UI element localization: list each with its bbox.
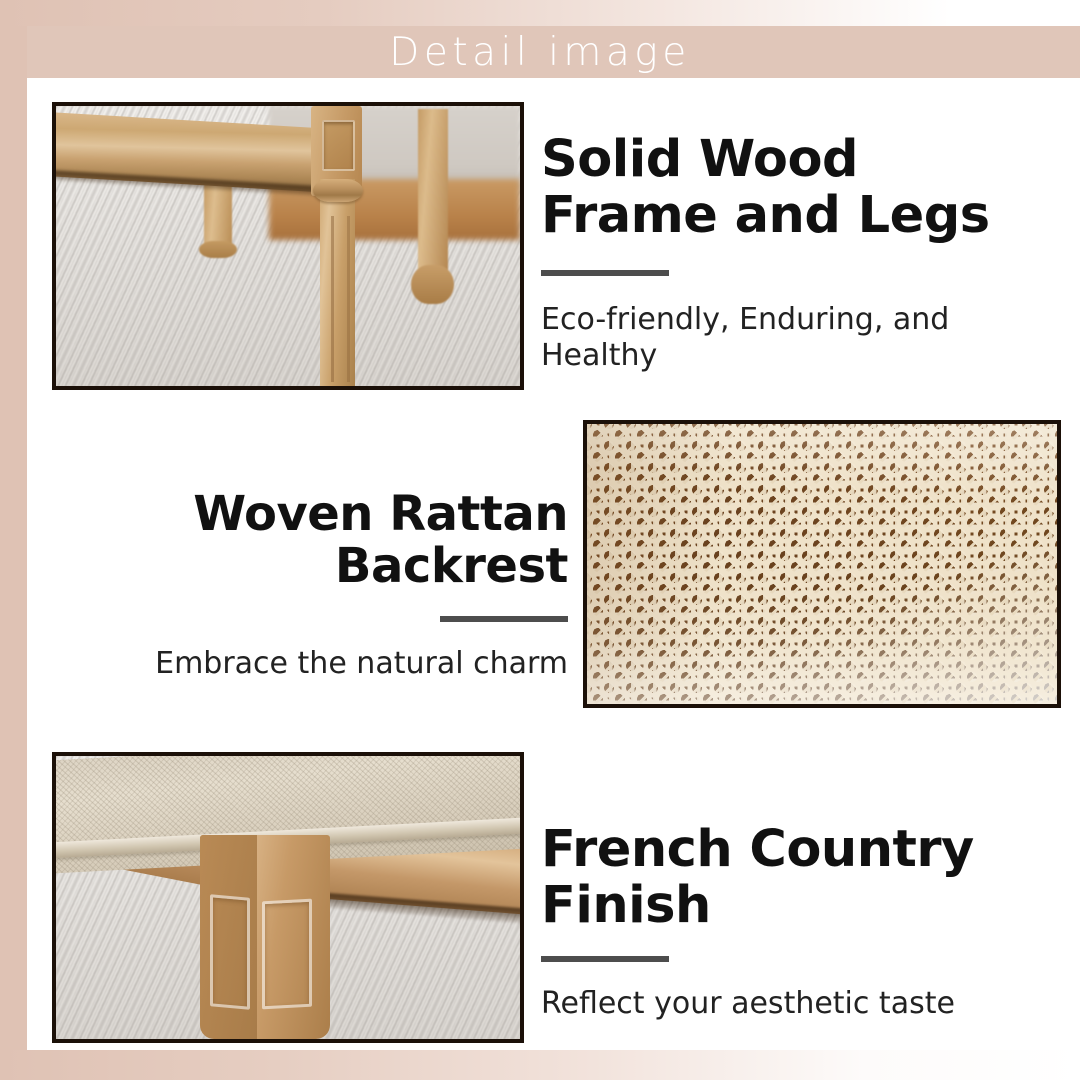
chair-leg-middle (204, 182, 232, 249)
leg-carved-panel-left (210, 895, 250, 1010)
heading-french-country: French Country Finish (541, 822, 1061, 934)
text-block-woven-rattan: Woven Rattan Backrest Embrace the natura… (33, 488, 568, 682)
top-gradient-strip (0, 0, 1080, 26)
subtitle-woven-rattan: Embrace the natural charm (33, 646, 568, 682)
heading-solid-wood-line2: Frame and Legs (541, 188, 1061, 244)
photo-woven-rattan (583, 420, 1061, 708)
divider-woven-rattan (440, 616, 568, 622)
divider-french-country (541, 956, 669, 962)
text-block-french-country: French Country Finish Reflect your aesth… (541, 822, 1061, 1022)
rattan-lighting-overlay (587, 424, 1057, 704)
chair-leg-right (418, 109, 448, 288)
detail-image-page: Detail image Solid Wood Frame and Legs E… (0, 0, 1080, 1080)
subtitle-solid-wood: Eco-friendly, Enduring, and Healthy (541, 302, 1061, 374)
chair-leg-front (320, 179, 355, 386)
text-block-solid-wood: Solid Wood Frame and Legs Eco-friendly, … (541, 132, 1061, 374)
photo-french-country-finish (52, 752, 524, 1043)
divider-solid-wood (541, 270, 669, 276)
heading-solid-wood-line1: Solid Wood (541, 132, 1061, 188)
leg-carved-panel-right (262, 899, 312, 1010)
bottom-gradient-strip (0, 1050, 1080, 1080)
photo-solid-wood-legs (52, 102, 524, 390)
subtitle-french-country: Reflect your aesthetic taste (541, 986, 1061, 1022)
page-title: Detail image (0, 26, 1080, 78)
heading-woven-rattan: Woven Rattan Backrest (33, 488, 568, 592)
carved-corner-leg (200, 835, 330, 1039)
left-border-strip (0, 26, 27, 1080)
